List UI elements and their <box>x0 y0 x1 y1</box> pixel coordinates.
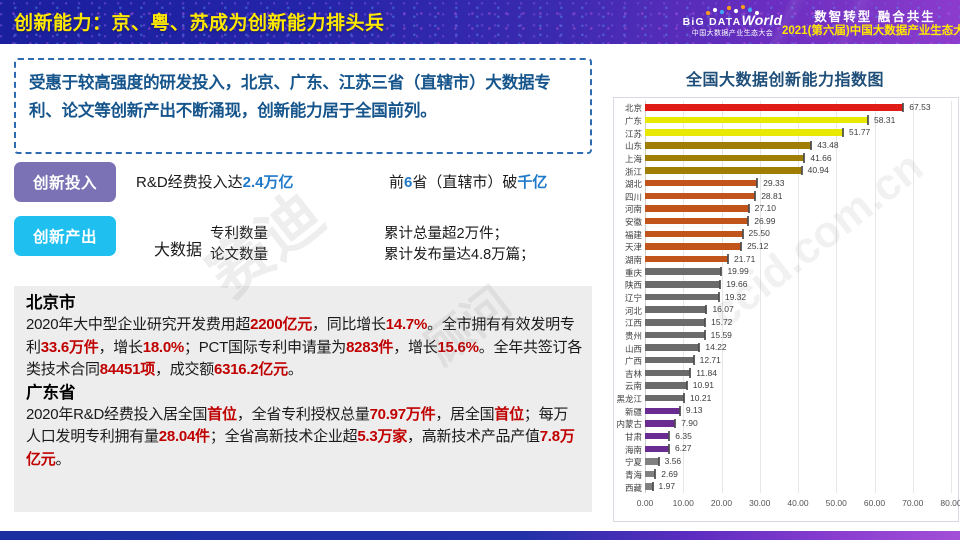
chart-bar[interactable] <box>645 395 684 402</box>
chart-category-label: 湖北 <box>609 178 642 190</box>
chart-value-label: 3.56 <box>665 456 682 466</box>
chart-value-label: 40.94 <box>808 165 829 175</box>
chart-category-label: 北京 <box>609 102 642 114</box>
chart-category-label: 广东 <box>609 115 642 127</box>
chart-bar-row[interactable]: 天津25.12 <box>645 240 951 253</box>
chart-bar-row[interactable]: 贵州15.59 <box>645 329 951 342</box>
chart-bar-row[interactable]: 陕西19.66 <box>645 278 951 291</box>
chart-bar[interactable] <box>645 458 659 465</box>
chart-category-label: 贵州 <box>609 330 642 342</box>
bj-rd-growth: 14.7% <box>386 316 427 333</box>
chart-x-tick-label: 20.00 <box>711 498 732 508</box>
chart-category-label: 河北 <box>609 305 642 317</box>
chart-category-label: 吉林 <box>609 368 642 380</box>
chart-panel: 全国大数据创新能力指数图 北京67.53广东58.31江苏51.77山东43.4… <box>608 44 960 531</box>
chart-bar[interactable] <box>645 433 669 440</box>
chart-category-label: 甘肃 <box>609 431 642 443</box>
bj-patent-growth: 18.0% <box>143 339 184 356</box>
chart-category-label: 黑龙江 <box>609 393 642 405</box>
chart-category-label: 西藏 <box>609 482 642 494</box>
chart-category-label: 浙江 <box>609 166 642 178</box>
chart-category-label: 天津 <box>609 241 642 253</box>
chart-category-label: 海南 <box>609 444 642 456</box>
chart-value-label: 1.97 <box>659 481 676 491</box>
chart-bar-row[interactable]: 重庆19.99 <box>645 265 951 278</box>
input-metric-a-label: R&D经费投入达 <box>136 174 243 191</box>
chart-value-label: 10.21 <box>690 393 711 403</box>
chart-value-label: 41.66 <box>810 153 831 163</box>
chart-x-tick-label: 0.00 <box>637 498 654 508</box>
chart-bar-row[interactable]: 山西14.22 <box>645 341 951 354</box>
chart-bar[interactable] <box>645 193 755 200</box>
innovation-input-metric-a: R&D经费投入达2.4万亿 <box>136 171 294 192</box>
input-metric-b-value: 千亿 <box>517 174 547 191</box>
gd-l1-c: ， <box>435 406 450 423</box>
chart-bar[interactable] <box>645 281 720 288</box>
chart-x-tick-label: 10.00 <box>673 498 694 508</box>
chart-value-label: 7.90 <box>681 418 698 428</box>
output-metric-1-value: 累计总量超2万件； <box>384 224 535 245</box>
gd-rank-1: 首位 <box>207 406 237 423</box>
chart-bar[interactable] <box>645 180 757 187</box>
chart-bar[interactable] <box>645 218 748 225</box>
gd-l1-b: ，全省专利授权总量 <box>237 406 370 423</box>
chart-category-label: 湖南 <box>609 254 642 266</box>
innovation-output-badge: 创新产出 <box>14 216 116 256</box>
bj-l2-b: ，增长 <box>98 339 142 356</box>
chart-bar[interactable] <box>645 382 687 389</box>
chart-x-tick-label: 30.00 <box>749 498 770 508</box>
bj-l2-c: ；PCT国际专利申 <box>184 339 302 356</box>
gd-patents-per-10k: 28.04件 <box>159 428 210 445</box>
output-metric-2-value: 累计发布量达4.8万篇； <box>384 245 535 266</box>
chart-bar-row[interactable]: 上海41.66 <box>645 152 951 165</box>
chart-x-tick-label: 40.00 <box>787 498 808 508</box>
logo-wordmark: BiG DATAWorld <box>680 14 785 29</box>
input-metric-b-prefix: 前 <box>389 174 404 191</box>
chart-bar-row[interactable]: 内蒙古7.90 <box>645 417 951 430</box>
chart-x-tick-label: 60.00 <box>864 498 885 508</box>
chart-value-label: 67.53 <box>909 102 930 112</box>
output-metric-names: 专利数量 论文数量 <box>210 224 268 266</box>
chart-bar[interactable] <box>645 483 653 490</box>
output-category-label: 大数据 <box>154 236 202 260</box>
chart-bar[interactable] <box>645 319 705 326</box>
chart-bar[interactable] <box>645 268 721 275</box>
region-details-block: 北京市 2020年大中型企业研究开发费用超2200亿元，同比增长14.7%。全市… <box>14 286 592 512</box>
bj-pct-growth: 15.6% <box>437 339 478 356</box>
chart-category-label: 山西 <box>609 343 642 355</box>
output-metric-2-name: 论文数量 <box>210 245 268 266</box>
chart-value-label: 12.71 <box>700 355 721 365</box>
chart-value-label: 21.71 <box>734 254 755 264</box>
chart-title: 全国大数据创新能力指数图 <box>609 66 960 90</box>
chart-x-axis: 0.0010.0020.0030.0040.0050.0060.0070.008… <box>645 496 951 514</box>
bj-l1-b: ，同比增长 <box>312 316 386 333</box>
chart-bar[interactable] <box>645 420 675 427</box>
left-content-panel: 受惠于较高强度的研发投入，北京、广东、江苏三省（直辖市）大数据专利、论文等创新产… <box>0 44 608 531</box>
chart-category-label: 上海 <box>609 153 642 165</box>
gd-rank-2: 首位 <box>494 406 524 423</box>
chart-value-label: 14.22 <box>705 342 726 352</box>
chart-value-label: 19.99 <box>727 266 748 276</box>
chart-category-label: 辽宁 <box>609 292 642 304</box>
innovation-input-metric-b: 前6省（直辖市）破千亿 <box>389 171 547 192</box>
chart-value-label: 6.35 <box>675 431 692 441</box>
bj-l4-a: ，成交额 <box>155 361 214 378</box>
chart-bar-row[interactable]: 青海2.69 <box>645 468 951 481</box>
bj-patents: 33.6万件 <box>41 339 99 356</box>
gd-l1-a: 2020年R&D经费投入居全国 <box>26 406 207 423</box>
chart-bar-row[interactable]: 福建25.50 <box>645 227 951 240</box>
chart-value-label: 19.32 <box>725 292 746 302</box>
logo-bigdata-text: BiG DATA <box>683 16 742 28</box>
chart-bar[interactable] <box>645 408 680 415</box>
bj-rd-expense: 2200亿元 <box>250 316 312 333</box>
chart-value-label: 2.69 <box>661 469 678 479</box>
chart-x-tick-label: 80.00 <box>940 498 960 508</box>
chart-bar-row[interactable]: 海南6.27 <box>645 442 951 455</box>
chart-bar-row[interactable]: 云南10.91 <box>645 379 951 392</box>
chart-bar-row[interactable]: 北京67.53 <box>645 101 951 114</box>
header-slogan-secondary: 2021(第六届)中国大数据产业生态大会 <box>782 22 960 38</box>
chart-value-label: 51.77 <box>849 127 870 137</box>
gd-l3-a: 企业超 <box>313 428 357 445</box>
chart-category-label: 新疆 <box>609 406 642 418</box>
bj-l4-b: 。 <box>288 361 303 378</box>
chart-bar[interactable] <box>645 306 706 313</box>
chart-value-label: 26.99 <box>754 216 775 226</box>
beijing-heading: 北京市 <box>26 292 582 314</box>
chart-bar[interactable] <box>645 332 705 339</box>
bj-contract-unit: 项 <box>140 361 155 378</box>
chart-bar[interactable] <box>645 471 655 478</box>
chart-bar[interactable] <box>645 231 743 238</box>
chart-bar[interactable] <box>645 205 749 212</box>
chart-bar-row[interactable]: 西藏1.97 <box>645 480 951 493</box>
chart-bar-row[interactable]: 吉林11.84 <box>645 367 951 380</box>
chart-bar-row[interactable]: 四川28.81 <box>645 190 951 203</box>
bj-pct-count: 8283件 <box>346 339 393 356</box>
chart-bar[interactable] <box>645 117 868 124</box>
innovation-input-badge: 创新投入 <box>14 162 116 202</box>
chart-category-label: 云南 <box>609 380 642 392</box>
chart-bar-row[interactable]: 浙江40.94 <box>645 164 951 177</box>
chart-plot-area: 北京67.53广东58.31江苏51.77山东43.48上海41.66浙江40.… <box>645 101 951 493</box>
gd-hitech-firms: 5.3万家 <box>357 428 407 445</box>
bj-l3-a: 请量为 <box>302 339 346 356</box>
gd-patent-total: 70.97万件 <box>370 406 436 423</box>
chart-bar-row[interactable]: 黑龙江10.21 <box>645 392 951 405</box>
chart-bar-row[interactable]: 河北16.07 <box>645 303 951 316</box>
chart-value-label: 28.81 <box>761 191 782 201</box>
summary-callout-box: 受惠于较高强度的研发投入，北京、广东、江苏三省（直辖市）大数据专利、论文等创新产… <box>14 58 592 154</box>
chart-category-label: 青海 <box>609 469 642 481</box>
chart-bar[interactable] <box>645 155 804 162</box>
chart-bar[interactable] <box>645 142 811 149</box>
chart-bar-row[interactable]: 新疆9.13 <box>645 404 951 417</box>
chart-value-label: 27.10 <box>755 203 776 213</box>
chart-value-label: 6.27 <box>675 443 692 453</box>
chart-category-label: 广西 <box>609 355 642 367</box>
output-metric-1-name: 专利数量 <box>210 224 268 245</box>
chart-bar-row[interactable]: 河南27.10 <box>645 202 951 215</box>
page-title: 创新能力：京、粤、苏成为创新能力排头兵 <box>14 8 385 35</box>
bj-turnover: 6316.2亿元 <box>214 361 288 378</box>
chart-bar-row[interactable]: 湖北29.33 <box>645 177 951 190</box>
chart-bar[interactable] <box>645 357 694 364</box>
logo-subtitle: 中国大数据产业生态大会 <box>680 28 785 38</box>
bj-contract-count: 84451 <box>100 361 140 378</box>
chart-bar[interactable] <box>645 129 843 136</box>
bj-l1-a: 2020年大中型企业研究开发费用超 <box>26 316 250 333</box>
chart-value-label: 43.48 <box>817 140 838 150</box>
footer-bar <box>0 531 960 540</box>
gd-l3-c: 。 <box>56 451 71 468</box>
input-metric-b-mid: 省（直辖市）破 <box>412 174 517 191</box>
input-metric-a-value: 2.4万亿 <box>243 174 294 191</box>
chart-category-label: 河南 <box>609 203 642 215</box>
chart-value-label: 9.13 <box>686 405 703 415</box>
chart-value-label: 16.07 <box>712 304 733 314</box>
chart-value-label: 19.66 <box>726 279 747 289</box>
output-metric-values: 累计总量超2万件； 累计发布量达4.8万篇； <box>384 224 535 266</box>
chart-bar[interactable] <box>645 243 741 250</box>
bj-l1-c: 。 <box>427 316 442 333</box>
logo-world-text: World <box>741 12 782 28</box>
chart-bar-row[interactable]: 宁夏3.56 <box>645 455 951 468</box>
chart-category-label: 宁夏 <box>609 456 642 468</box>
chart-value-label: 25.12 <box>747 241 768 251</box>
chart-value-label: 15.59 <box>711 330 732 340</box>
chart-value-label: 25.50 <box>749 228 770 238</box>
chart-bar[interactable] <box>645 294 719 301</box>
gd-l2-a: 居全国 <box>450 406 494 423</box>
chart-category-label: 四川 <box>609 191 642 203</box>
app-header: 创新能力：京、粤、苏成为创新能力排头兵 BiG DATAWorld 中国大数据产… <box>0 0 960 44</box>
chart-x-tick-label: 50.00 <box>826 498 847 508</box>
chart-bar[interactable] <box>645 370 690 377</box>
chart-category-label: 福建 <box>609 229 642 241</box>
chart-category-label: 陕西 <box>609 279 642 291</box>
chart-bar[interactable] <box>645 446 669 453</box>
chart-bar[interactable] <box>645 167 802 174</box>
chart-value-label: 29.33 <box>763 178 784 188</box>
chart-bar-row[interactable]: 江西15.72 <box>645 316 951 329</box>
chart-value-label: 58.31 <box>874 115 895 125</box>
chart-category-label: 重庆 <box>609 267 642 279</box>
guangdong-body-text: 2020年R&D经费投入居全国首位，全省专利授权总量70.97万件，居全国首位；… <box>26 404 582 472</box>
chart-category-label: 内蒙古 <box>609 418 642 430</box>
chart-bar-row[interactable]: 辽宁19.32 <box>645 291 951 304</box>
chart-category-label: 江西 <box>609 317 642 329</box>
chart-bar[interactable] <box>645 344 699 351</box>
gd-l2-c: ；全省高新技术 <box>210 428 313 445</box>
chart-bar[interactable] <box>645 104 903 111</box>
chart-value-label: 15.72 <box>711 317 732 327</box>
chart-bar-row[interactable]: 江苏51.77 <box>645 126 951 139</box>
chart-x-tick-label: 70.00 <box>902 498 923 508</box>
summary-callout-text: 受惠于较高强度的研发投入，北京、广东、江苏三省（直辖市）大数据专利、论文等创新产… <box>29 69 577 125</box>
chart-category-label: 江苏 <box>609 128 642 140</box>
chart-bar-row[interactable]: 山东43.48 <box>645 139 951 152</box>
chart-bar-row[interactable]: 湖南21.71 <box>645 253 951 266</box>
beijing-body-text: 2020年大中型企业研究开发费用超2200亿元，同比增长14.7%。全市拥有有效… <box>26 314 582 382</box>
chart-value-label: 11.84 <box>696 368 717 378</box>
chart-value-label: 10.91 <box>693 380 714 390</box>
chart-bar-row[interactable]: 广东58.31 <box>645 114 951 127</box>
chart-bar-row[interactable]: 广西12.71 <box>645 354 951 367</box>
chart-bar[interactable] <box>645 256 728 263</box>
chart-bar-row[interactable]: 甘肃6.35 <box>645 430 951 443</box>
gd-l3-b: ，高新技术产品产值 <box>407 428 540 445</box>
chart-gridline <box>951 101 952 493</box>
chart-category-label: 山东 <box>609 140 642 152</box>
conference-logo: BiG DATAWorld 中国大数据产业生态大会 <box>680 5 785 39</box>
chart-bar-row[interactable]: 安徽26.99 <box>645 215 951 228</box>
bj-l3-b: ，增长 <box>393 339 437 356</box>
guangdong-heading: 广东省 <box>26 382 582 404</box>
chart-category-label: 安徽 <box>609 216 642 228</box>
